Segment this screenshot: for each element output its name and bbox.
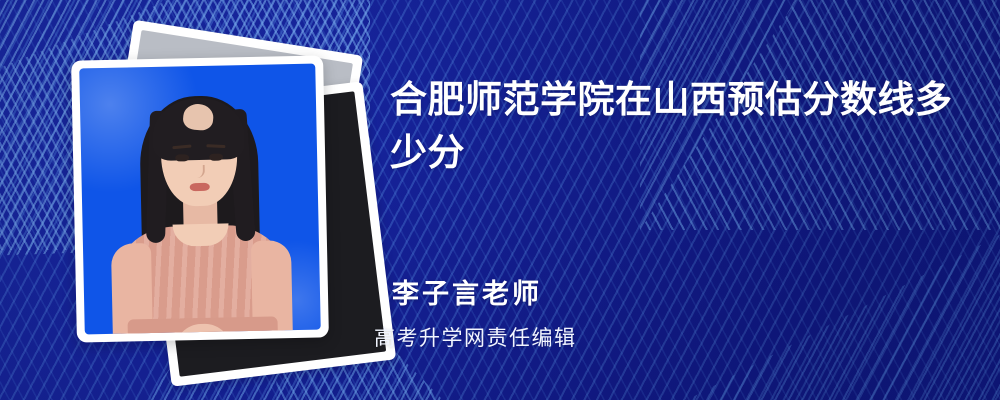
- author-name: 李子言老师: [392, 272, 542, 311]
- article-title: 合肥师范学院在山西预估分数线多少分: [390, 74, 962, 179]
- author-photo: [79, 64, 321, 335]
- portrait-eye-right: [209, 154, 223, 161]
- portrait-eye-left: [175, 154, 189, 161]
- author-role: 高考升学网责任编辑: [374, 322, 577, 352]
- author-portrait-figure: [79, 64, 321, 335]
- author-photo-stack: [58, 28, 368, 368]
- banner-text-block: 合肥师范学院在山西预估分数线多少分 李子言老师 高考升学网责任编辑: [382, 0, 982, 400]
- portrait-mouth: [190, 183, 210, 191]
- article-cover-banner: 合肥师范学院在山西预估分数线多少分 李子言老师 高考升学网责任编辑: [0, 0, 1000, 400]
- author-photo-card: [71, 55, 329, 342]
